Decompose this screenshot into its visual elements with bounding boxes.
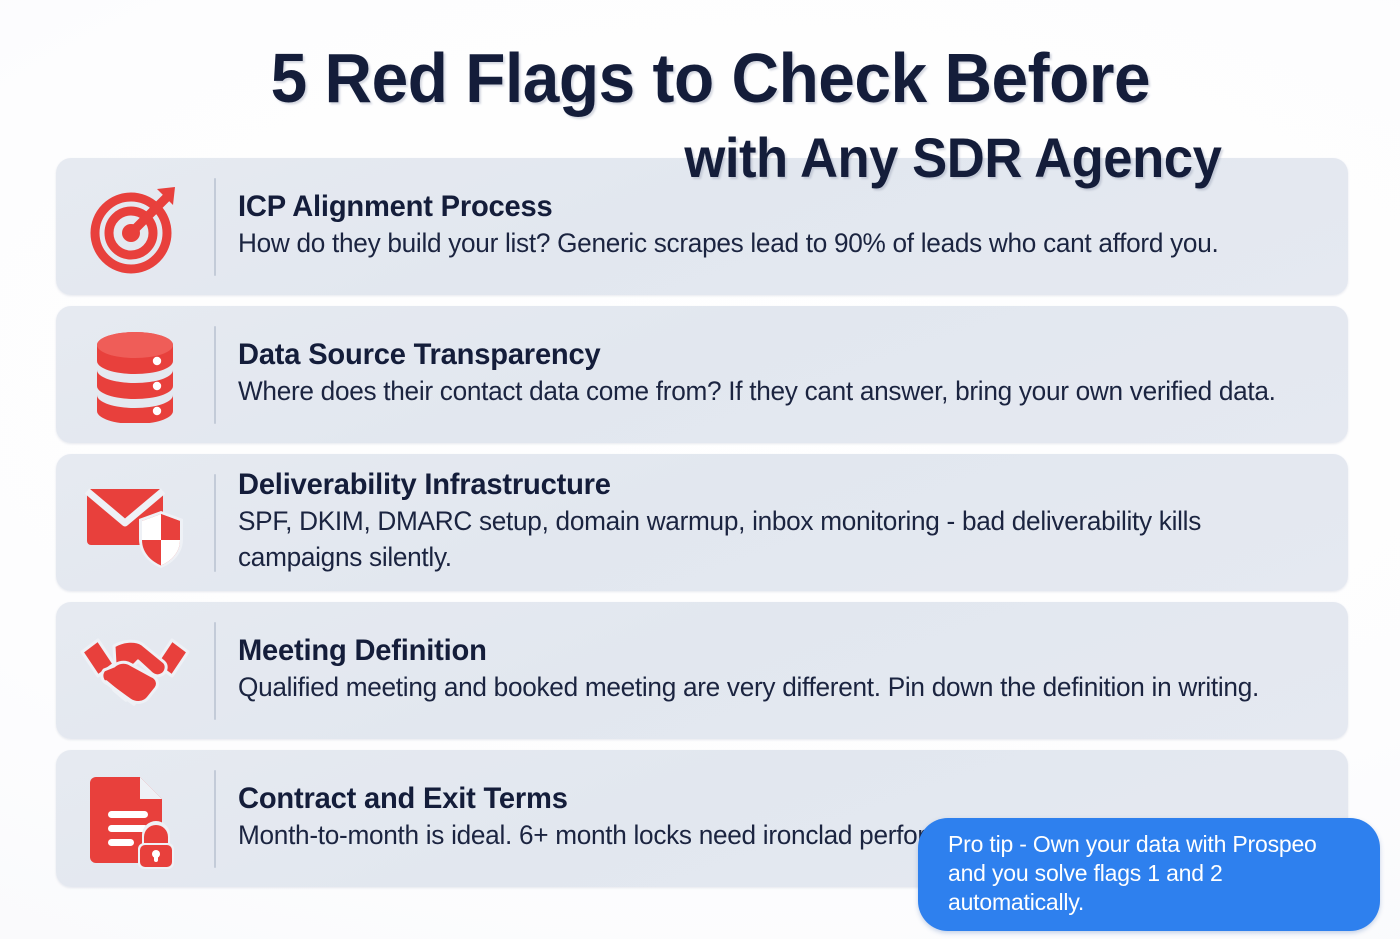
handshake-icon bbox=[56, 602, 214, 739]
target-icon bbox=[56, 158, 214, 295]
card-divider bbox=[214, 770, 216, 868]
red-flag-card-3: Deliverability Infrastructure SPF, DKIM,… bbox=[56, 454, 1348, 591]
card-body: Deliverability Infrastructure SPF, DKIM,… bbox=[238, 469, 1348, 576]
card-description: Qualified meeting and booked meeting are… bbox=[238, 669, 1297, 706]
page-title-line-1: 5 Red Flags to Check Before bbox=[42, 44, 1358, 113]
card-body: Meeting Definition Qualified meeting and… bbox=[238, 635, 1348, 706]
pro-tip-badge: Pro tip - Own your data with Prospeo and… bbox=[918, 818, 1380, 931]
red-flag-card-2: Data Source Transparency Where does thei… bbox=[56, 306, 1348, 443]
card-title: Deliverability Infrastructure bbox=[238, 469, 1297, 501]
card-body: ICP Alignment Process How do they build … bbox=[238, 191, 1348, 262]
card-divider bbox=[214, 622, 216, 720]
card-body: Data Source Transparency Where does thei… bbox=[238, 339, 1348, 410]
card-divider bbox=[214, 474, 216, 572]
card-title: ICP Alignment Process bbox=[238, 191, 1297, 223]
card-description: SPF, DKIM, DMARC setup, domain warmup, i… bbox=[238, 503, 1297, 576]
card-description: How do they build your list? Generic scr… bbox=[238, 225, 1297, 262]
red-flag-card-1: ICP Alignment Process How do they build … bbox=[56, 158, 1348, 295]
red-flag-card-list: ICP Alignment Process How do they build … bbox=[56, 158, 1348, 898]
card-divider bbox=[214, 326, 216, 424]
red-flag-card-4: Meeting Definition Qualified meeting and… bbox=[56, 602, 1348, 739]
database-icon bbox=[56, 306, 214, 443]
card-description: Where does their contact data come from?… bbox=[238, 373, 1297, 410]
card-divider bbox=[214, 178, 216, 276]
card-title: Meeting Definition bbox=[238, 635, 1297, 667]
card-title: Data Source Transparency bbox=[238, 339, 1297, 371]
email-shield-icon bbox=[56, 454, 214, 591]
document-lock-icon bbox=[56, 750, 214, 887]
card-title: Contract and Exit Terms bbox=[238, 783, 1297, 815]
